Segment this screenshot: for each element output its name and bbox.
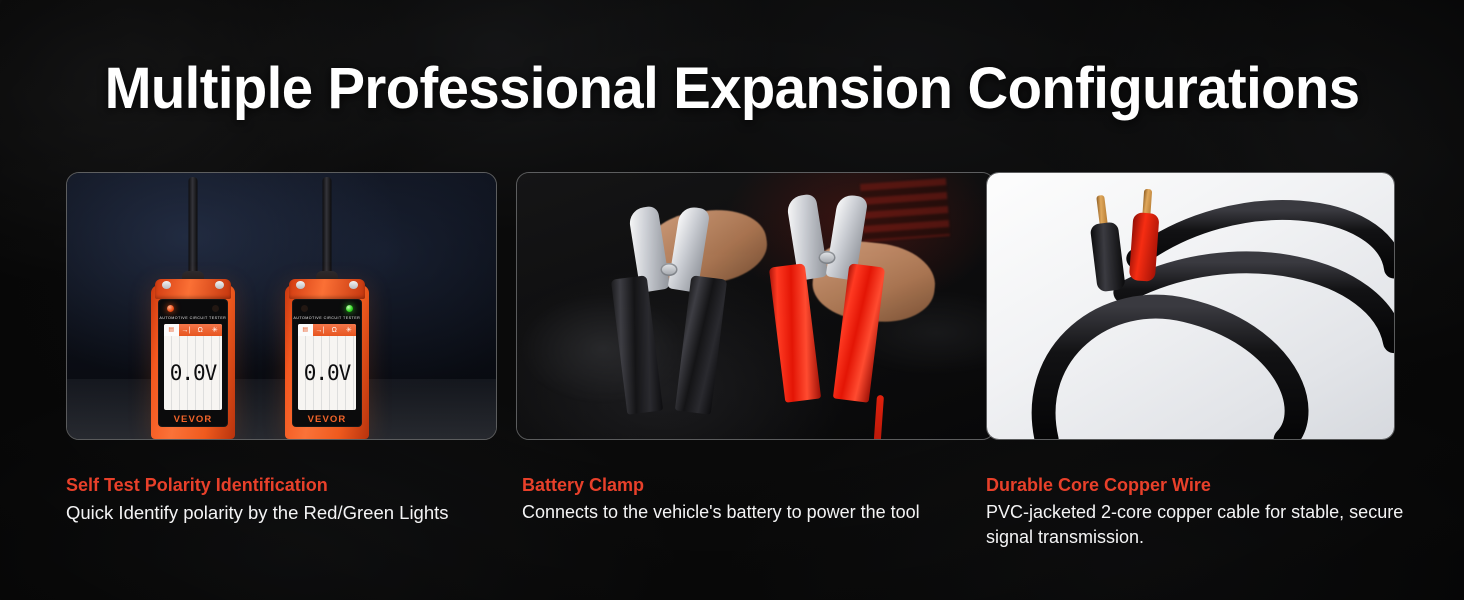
lcd-reading: 0.0V xyxy=(298,336,356,410)
lcd-icon-strip: ▤ →| Ω ✳ xyxy=(298,324,356,336)
caption-title: Durable Core Copper Wire xyxy=(986,473,1406,497)
lcd-voltage-value: 0.0V xyxy=(170,361,217,385)
device-face-label: AUTOMOTIVE CIRCUIT TESTER xyxy=(294,316,361,320)
lcd-voltage-value: 0.0V xyxy=(304,361,351,385)
battery-icon: ▤ xyxy=(164,324,179,336)
caption-body: PVC-jacketed 2-core copper cable for sta… xyxy=(986,500,1406,550)
clamp-pivot xyxy=(819,251,836,264)
caption-self-test-polarity: Self Test Polarity Identification Quick … xyxy=(66,473,526,525)
device-lcd-screen: ▤ →| Ω ✳ 0.0V xyxy=(298,324,356,410)
caption-title: Battery Clamp xyxy=(522,473,952,497)
green-led-indicator xyxy=(212,305,219,312)
device-stud-left xyxy=(296,281,305,289)
lamp-icon: ✳ xyxy=(208,324,223,336)
device-faceplate: AUTOMOTIVE CIRCUIT TESTER ▤ →| Ω ✳ 0.0V … xyxy=(158,299,228,427)
device-lcd-screen: ▤ →| Ω ✳ 0.0V xyxy=(164,324,222,410)
battery-clamp-red xyxy=(779,195,875,407)
red-led-indicator xyxy=(167,305,174,312)
diode-icon: →| xyxy=(179,324,194,336)
panel-self-test-polarity[interactable]: AUTOMOTIVE CIRCUIT TESTER ▤ →| Ω ✳ 0.0V … xyxy=(66,172,497,440)
red-jacket xyxy=(1129,212,1160,282)
panel-1-floor xyxy=(67,379,496,439)
caption-body: Connects to the vehicle's battery to pow… xyxy=(522,500,952,525)
page-title: Multiple Professional Expansion Configur… xyxy=(22,52,1442,126)
panel-durable-core-copper-wire[interactable] xyxy=(986,172,1395,440)
device-face-label: AUTOMOTIVE CIRCUIT TESTER xyxy=(160,316,227,320)
green-led-indicator xyxy=(346,305,353,312)
red-led-indicator xyxy=(301,305,308,312)
diode-icon: →| xyxy=(313,324,328,336)
battery-clamp-black xyxy=(621,207,717,419)
lamp-icon: ✳ xyxy=(342,324,357,336)
device-stud-right xyxy=(215,281,224,289)
device-stud-left xyxy=(162,281,171,289)
circuit-tester-device-2: AUTOMOTIVE CIRCUIT TESTER ▤ →| Ω ✳ 0.0V … xyxy=(285,257,369,439)
device-stud-right xyxy=(349,281,358,289)
device-led-row xyxy=(158,305,228,312)
caption-durable-core-copper-wire: Durable Core Copper Wire PVC-jacketed 2-… xyxy=(986,473,1406,550)
caption-battery-clamp: Battery Clamp Connects to the vehicle's … xyxy=(522,473,952,525)
device-led-row xyxy=(292,305,362,312)
panel-battery-clamp[interactable] xyxy=(516,172,995,440)
copper-cable-illustration xyxy=(987,173,1394,440)
device-faceplate: AUTOMOTIVE CIRCUIT TESTER ▤ →| Ω ✳ 0.0V … xyxy=(292,299,362,427)
caption-title: Self Test Polarity Identification xyxy=(66,473,526,497)
brand-logo-vevor: VEVOR xyxy=(308,414,347,425)
circuit-tester-device-1: AUTOMOTIVE CIRCUIT TESTER ▤ →| Ω ✳ 0.0V … xyxy=(151,257,235,439)
ohm-icon: Ω xyxy=(327,324,342,336)
battery-icon: ▤ xyxy=(298,324,313,336)
caption-body: Quick Identify polarity by the Red/Green… xyxy=(66,500,526,525)
lcd-reading: 0.0V xyxy=(164,336,222,410)
clamp-pivot xyxy=(661,263,678,276)
lcd-icon-strip: ▤ →| Ω ✳ xyxy=(164,324,222,336)
brand-logo-vevor: VEVOR xyxy=(174,414,213,425)
ohm-icon: Ω xyxy=(193,324,208,336)
